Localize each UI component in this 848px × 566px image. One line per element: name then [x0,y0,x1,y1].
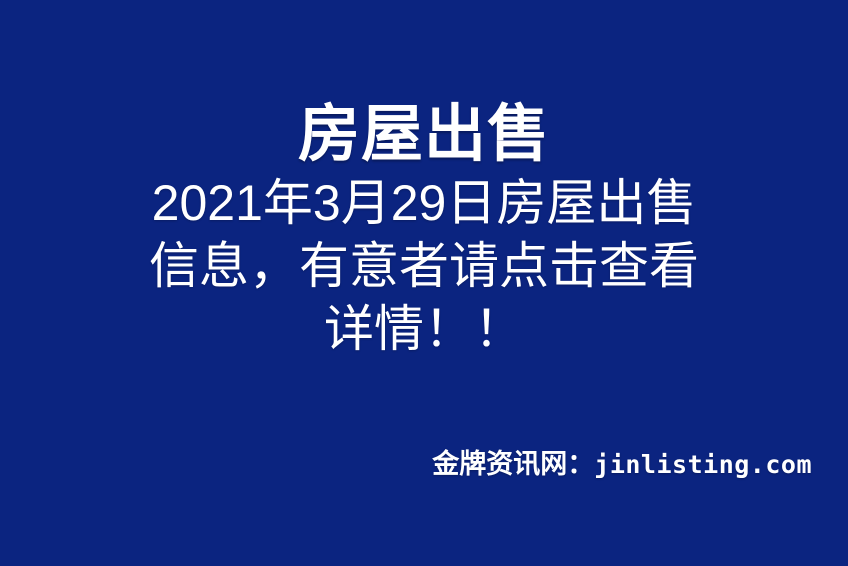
announcement-line-1: 2021年3月29日房屋出售 [0,172,848,235]
site-name-label: 金牌资讯网： [432,449,594,479]
site-credit: 金牌资讯网：jinlisting.com [432,448,812,480]
page-title: 房屋出售 [0,100,848,169]
announcement-line-3: 详情！！ [0,298,848,361]
announcement-line-2: 信息，有意者请点击查看 [0,235,848,298]
site-url-text: jinlisting.com [594,450,812,479]
poster-canvas: 房屋出售 2021年3月29日房屋出售 信息，有意者请点击查看 详情！！ 金牌资… [0,0,848,566]
announcement-body: 2021年3月29日房屋出售 信息，有意者请点击查看 详情！！ [0,172,848,361]
